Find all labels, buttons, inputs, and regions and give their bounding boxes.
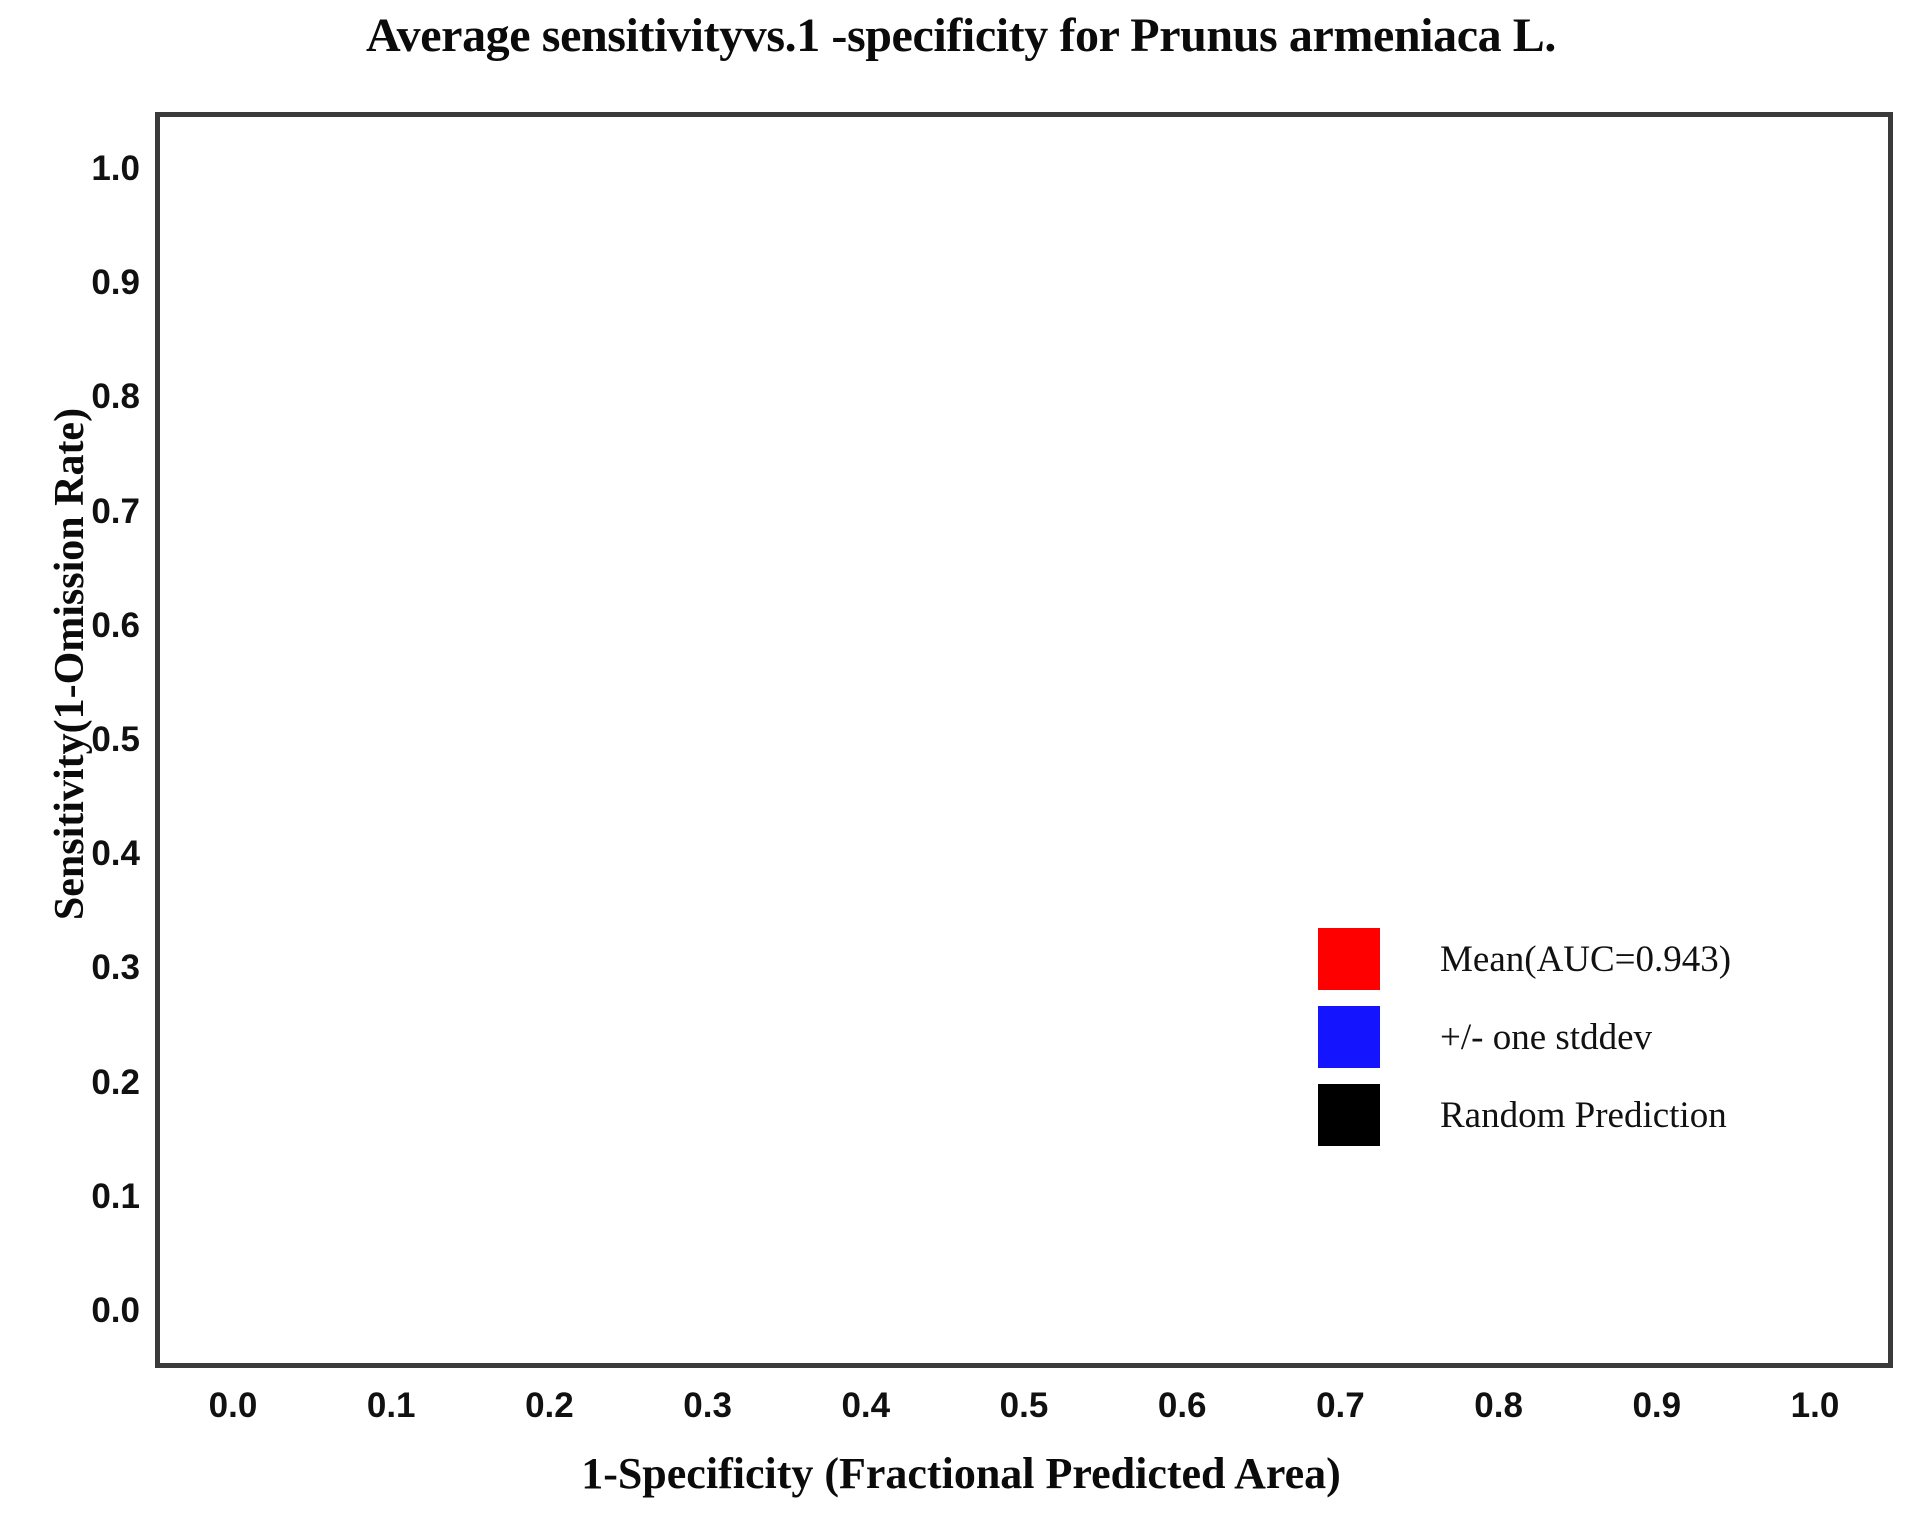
y-tick-label: 0.1 [30,1177,140,1217]
x-tick-label: 0.3 [648,1386,768,1426]
x-tick-label: 0.4 [806,1386,926,1426]
x-tick-label: 0.7 [1280,1386,1400,1426]
legend-label: +/- one stddev [1440,1016,1652,1059]
x-tick-label: 0.8 [1439,1386,1559,1426]
plot-area [155,112,1893,1368]
x-tick-label: 0.1 [331,1386,451,1426]
roc-chart-figure: Average sensitivityvs.1 -specificity for… [0,0,1922,1534]
y-tick-label: 0.7 [30,492,140,532]
chart-legend: Mean(AUC=0.943)+/- one stddevRandom Pred… [1318,920,1838,1154]
legend-label: Random Prediction [1440,1094,1727,1137]
plot-frame [155,112,1893,1368]
chart-title: Average sensitivityvs.1 -specificity for… [0,8,1922,63]
y-tick-label: 0.0 [30,1291,140,1331]
y-tick-label: 0.2 [30,1063,140,1103]
y-axis-tick-labels: 0.00.10.20.30.40.50.60.70.80.91.0 [0,112,140,1368]
x-axis-title: 1-Specificity (Fractional Predicted Area… [0,1448,1922,1499]
x-tick-label: 0.2 [489,1386,609,1426]
y-tick-label: 0.9 [30,263,140,303]
x-tick-label: 0.6 [1122,1386,1242,1426]
y-tick-label: 0.5 [30,720,140,760]
y-tick-label: 0.8 [30,377,140,417]
legend-item: Random Prediction [1318,1076,1838,1154]
x-tick-label: 0.5 [964,1386,1084,1426]
legend-label: Mean(AUC=0.943) [1440,938,1731,981]
black-swatch [1318,1084,1380,1146]
y-tick-label: 0.4 [30,834,140,874]
x-tick-label: 1.0 [1755,1386,1875,1426]
y-tick-label: 1.0 [30,149,140,189]
y-tick-label: 0.3 [30,948,140,988]
y-tick-label: 0.6 [30,606,140,646]
red-swatch [1318,928,1380,990]
legend-item: +/- one stddev [1318,998,1838,1076]
x-tick-label: 0.0 [173,1386,293,1426]
x-axis-tick-labels: 0.00.10.20.30.40.50.60.70.80.91.0 [155,1386,1893,1446]
x-tick-label: 0.9 [1597,1386,1717,1426]
legend-item: Mean(AUC=0.943) [1318,920,1838,998]
blue-swatch [1318,1006,1380,1068]
